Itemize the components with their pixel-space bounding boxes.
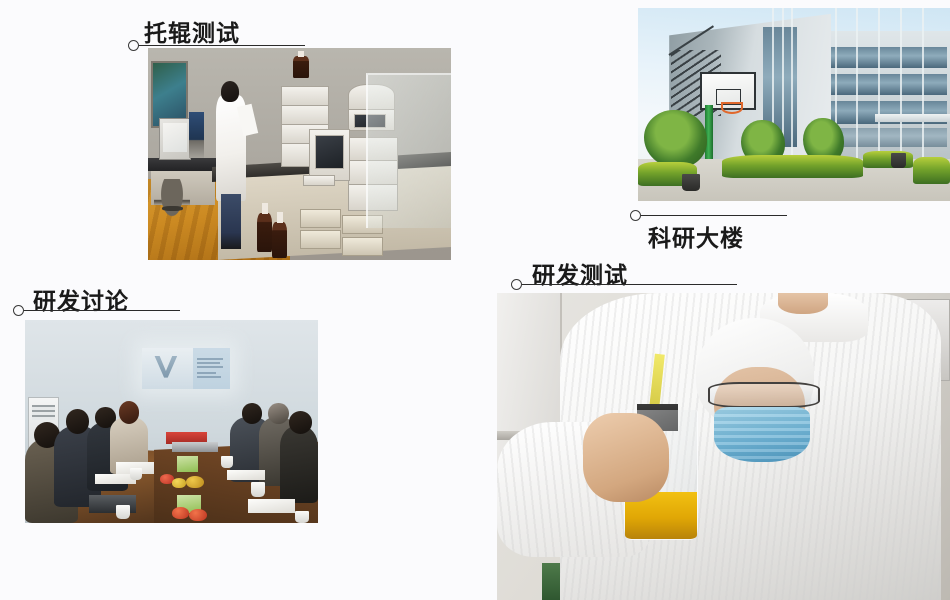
shrub-tree bbox=[644, 110, 706, 168]
cabinet-drawer bbox=[300, 209, 341, 228]
reagent-bottle bbox=[293, 56, 308, 77]
hedge-row bbox=[913, 157, 950, 184]
rdtest-scene bbox=[497, 293, 950, 600]
caption-rule bbox=[522, 284, 737, 285]
attendee-head bbox=[268, 403, 289, 423]
attendee-head bbox=[66, 409, 89, 433]
circle-marker-icon bbox=[511, 279, 522, 290]
lab-photo bbox=[148, 48, 451, 260]
lab-technician-legs bbox=[221, 194, 241, 249]
gloved-hand-holding-beaker bbox=[583, 413, 669, 502]
lab-technician-head bbox=[221, 81, 239, 102]
cabinet-drawer bbox=[300, 230, 341, 249]
fruit-orange bbox=[172, 507, 190, 519]
slide-text-line bbox=[197, 366, 223, 368]
cabinet-drawer bbox=[342, 237, 383, 256]
caption-label-research-building: 科研大楼 bbox=[648, 219, 744, 253]
caption-rule bbox=[24, 310, 180, 311]
fume-hood-glass bbox=[366, 73, 451, 228]
computer-monitor bbox=[159, 118, 191, 160]
paper-cup bbox=[130, 468, 142, 480]
caption-rd-test: 研发测试 bbox=[511, 256, 751, 296]
fruit-banana bbox=[186, 476, 204, 488]
slide-text-line bbox=[197, 362, 220, 364]
attendee-head bbox=[119, 401, 140, 423]
keyboard bbox=[303, 175, 335, 185]
instrument-display bbox=[315, 135, 344, 169]
document-paper bbox=[248, 499, 295, 513]
lab-scene bbox=[148, 48, 451, 260]
caption-rule bbox=[139, 45, 305, 46]
gallery-page: 托辊测试 bbox=[0, 0, 950, 600]
attendee-head bbox=[242, 403, 263, 423]
caption-research-building: 科研大楼 bbox=[630, 206, 860, 250]
slide-logo-icon bbox=[154, 356, 177, 378]
planter-pot bbox=[682, 174, 701, 191]
face-mask bbox=[714, 407, 809, 462]
paper-cup bbox=[295, 511, 310, 523]
entrance-canopy bbox=[875, 114, 950, 122]
instrument-module bbox=[281, 86, 328, 107]
document-paper bbox=[227, 470, 265, 480]
raised-hand bbox=[778, 293, 828, 314]
safety-glasses-icon bbox=[708, 382, 821, 407]
rdtest-photo bbox=[497, 293, 950, 600]
projection-screen bbox=[142, 348, 230, 389]
slide-text-line bbox=[197, 372, 216, 374]
planter-pot bbox=[891, 153, 907, 168]
circle-marker-icon bbox=[128, 40, 139, 51]
attendee-head bbox=[289, 411, 312, 433]
paper-cup bbox=[116, 505, 131, 519]
meeting-photo bbox=[25, 320, 318, 523]
caption-label-roller-test: 托辊测试 bbox=[144, 14, 240, 48]
fruit-orange bbox=[189, 509, 207, 521]
meeting-scene bbox=[25, 320, 318, 523]
caption-rd-discussion: 研发讨论 bbox=[13, 282, 193, 322]
solvent-bottle bbox=[272, 222, 287, 258]
paper-cup bbox=[251, 482, 266, 496]
tissue-box bbox=[177, 456, 198, 472]
hedge-row bbox=[722, 155, 862, 178]
building-scene bbox=[638, 8, 950, 201]
attendee bbox=[280, 426, 318, 503]
slide-text-line bbox=[197, 376, 222, 378]
computer-tower bbox=[189, 112, 204, 159]
slide-text-line bbox=[197, 358, 223, 360]
circle-marker-icon bbox=[13, 305, 24, 316]
circle-marker-icon bbox=[630, 210, 641, 221]
paper-cup bbox=[221, 456, 233, 468]
table-equipment bbox=[172, 442, 219, 452]
office-chair bbox=[154, 179, 190, 230]
slide-right-panel bbox=[193, 348, 230, 389]
building-photo bbox=[638, 8, 950, 201]
instrument-module bbox=[281, 105, 328, 126]
caption-rule bbox=[641, 215, 787, 216]
solvent-bottle bbox=[257, 213, 272, 251]
